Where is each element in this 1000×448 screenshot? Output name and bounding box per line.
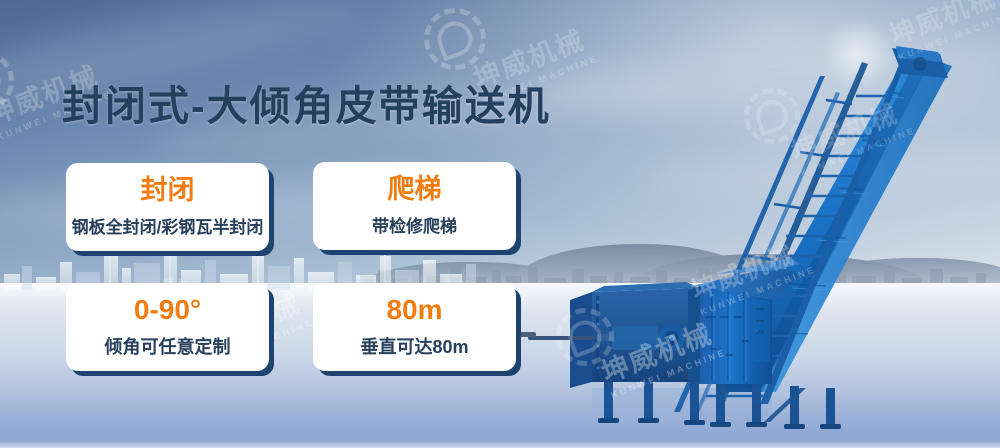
feature-card-description: 垂直可达80m <box>360 333 468 359</box>
feature-card-enclosure: 封闭 钢板全封闭/彩钢瓦半封闭 <box>66 163 269 251</box>
feature-card-headline: 80m <box>386 296 442 324</box>
bottom-edge-strip <box>0 442 1000 448</box>
feature-card-headline: 爬梯 <box>388 176 442 203</box>
feature-card-headline: 封闭 <box>141 177 195 204</box>
feature-card-height: 80m 垂直可达80m <box>313 283 516 371</box>
feature-card-ladder: 爬梯 带检修爬梯 <box>313 162 516 250</box>
feature-card-description: 倾角可任意定制 <box>105 333 231 359</box>
feature-card-description: 带检修爬梯 <box>372 212 457 237</box>
feature-card-angle: 0-90° 倾角可任意定制 <box>66 283 269 371</box>
feature-card-headline: 0-90° <box>134 296 201 324</box>
product-banner: 坤威机械 KUNWEI MACHINE 坤威机械 KUNWEI MACHINE … <box>0 0 1000 448</box>
feature-card-description: 钢板全封闭/彩钢瓦半封闭 <box>72 213 264 238</box>
banner-title: 封闭式-大倾角皮带输送机 <box>62 72 551 132</box>
